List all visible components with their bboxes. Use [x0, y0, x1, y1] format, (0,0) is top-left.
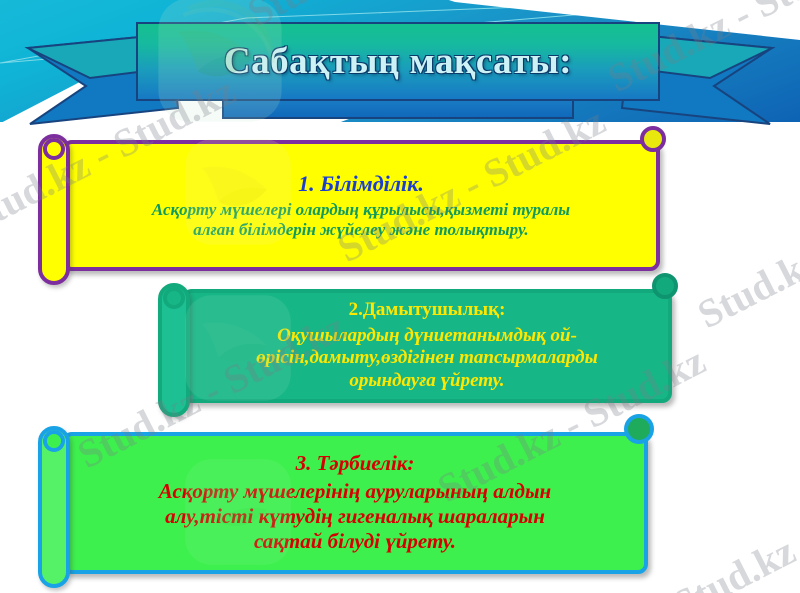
- objective-line: Асқорту мүшелері олардың құрылысы,қызмет…: [152, 200, 570, 220]
- scroll-curl-left-icon: [163, 287, 185, 309]
- scroll-curl-left-icon: [43, 430, 65, 452]
- objective-card-tarbielik: 3. Тәрбиелік: Асқорту мүшелерінің аурула…: [30, 420, 652, 588]
- objective-line: орындауға үйрету.: [256, 370, 598, 393]
- scroll-curl-right-icon: [652, 273, 678, 299]
- objective-body: Оқушылардың дүниетанымдық ой- өрісін,дам…: [256, 325, 598, 393]
- objective-panel: 3. Тәрбиелік: Асқорту мүшелерінің аурула…: [62, 432, 648, 574]
- objective-body: Асқорту мүшелері олардың құрылысы,қызмет…: [152, 200, 570, 241]
- objective-line: алған білімдерін жүйелеу және толықтыру.: [152, 220, 570, 240]
- ribbon-bottom-tab: [222, 100, 574, 119]
- scroll-curl-right-icon: [640, 126, 666, 152]
- objective-body: Асқорту мүшелерінің ауруларының алдын ал…: [159, 479, 551, 555]
- title-ribbon: Сабақтың мақсаты:: [0, 8, 800, 128]
- objective-heading: 2.Дамытушылық:: [349, 299, 506, 321]
- objective-panel: 2.Дамытушылық: Оқушылардың дүниетанымдық…: [182, 289, 672, 403]
- objective-line: сақтай білуді үйрету.: [159, 529, 551, 554]
- objective-panel: 1. Білімділік. Асқорту мүшелері олардың …: [62, 140, 660, 271]
- scroll-curl-right-icon: [624, 414, 654, 444]
- objective-heading: 1. Білімділік.: [298, 171, 424, 197]
- objective-line: алу,тісті күтудің гигеналық шараларын: [159, 504, 551, 529]
- objective-line: өрісін,дамыту,өздігінен тапсырмаларды: [256, 347, 598, 370]
- objective-line: Асқорту мүшелерінің ауруларының алдын: [159, 479, 551, 504]
- objective-heading: 3. Тәрбиелік:: [296, 451, 415, 476]
- scroll-curl-left-icon: [43, 138, 65, 160]
- objective-card-damytushylyk: 2.Дамытушылық: Оқушылардың дүниетанымдық…: [150, 277, 676, 417]
- slide-canvas: Сабақтың мақсаты: 1. Білімділік. Асқорту…: [0, 0, 800, 593]
- slide-title: Сабақтың мақсаты:: [136, 22, 660, 101]
- objective-card-bilimdilik: 1. Білімділік. Асқорту мүшелері олардың …: [30, 128, 664, 285]
- objective-line: Оқушылардың дүниетанымдық ой-: [256, 325, 598, 348]
- watermark-text: Stud.kz - Stud.kz: [690, 163, 800, 338]
